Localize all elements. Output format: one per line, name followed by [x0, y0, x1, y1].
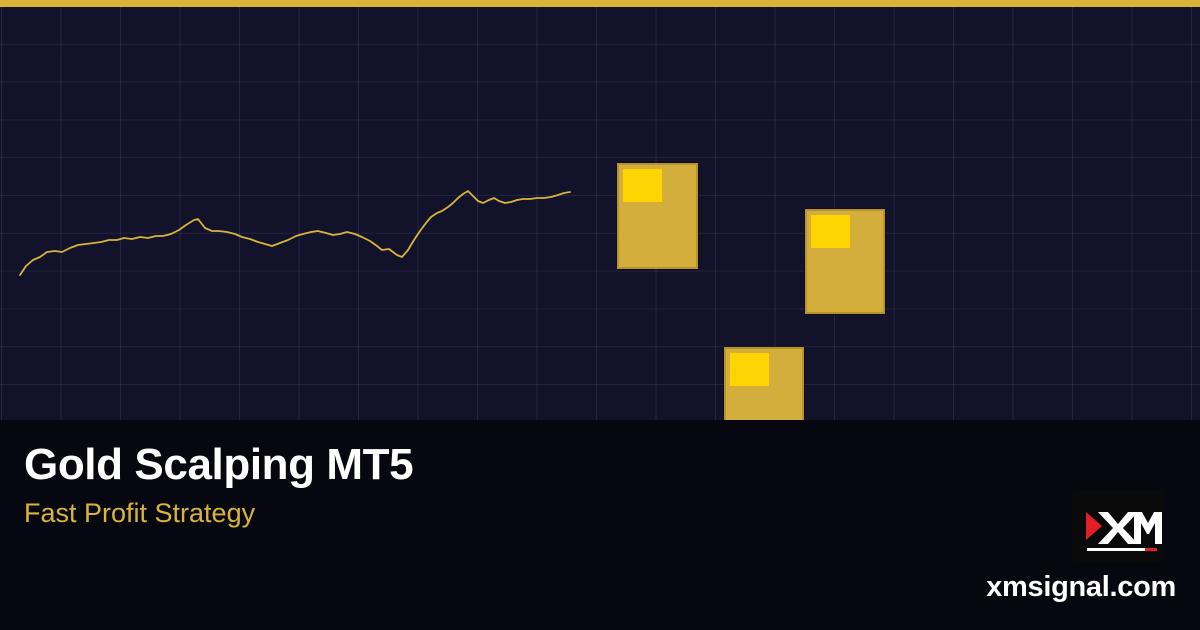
social-card: Gold Scalping MT5 Fast Profit Strategy — [0, 0, 1200, 630]
xm-underline-red — [1145, 548, 1157, 551]
page-subtitle: Fast Profit Strategy — [24, 499, 255, 527]
candle-1-highlight — [623, 169, 662, 202]
price-line-chart — [0, 0, 1200, 420]
footer-panel: Gold Scalping MT5 Fast Profit Strategy — [0, 420, 1200, 630]
candle-2-highlight — [811, 215, 850, 248]
chart-panel — [0, 0, 1200, 420]
price-line-path — [20, 191, 570, 275]
top-accent-bar — [0, 0, 1200, 7]
brand-block: xmsignal.com — [964, 490, 1176, 610]
xm-underline-white — [1087, 548, 1145, 551]
candle-3 — [724, 347, 804, 420]
candle-1 — [617, 163, 698, 269]
xm-logo-mark — [1072, 490, 1164, 562]
candle-2 — [805, 209, 885, 314]
site-url: xmsignal.com — [986, 571, 1176, 604]
page-title: Gold Scalping MT5 — [24, 442, 413, 488]
xm-logo — [1072, 490, 1164, 562]
candle-3-highlight — [730, 353, 769, 386]
